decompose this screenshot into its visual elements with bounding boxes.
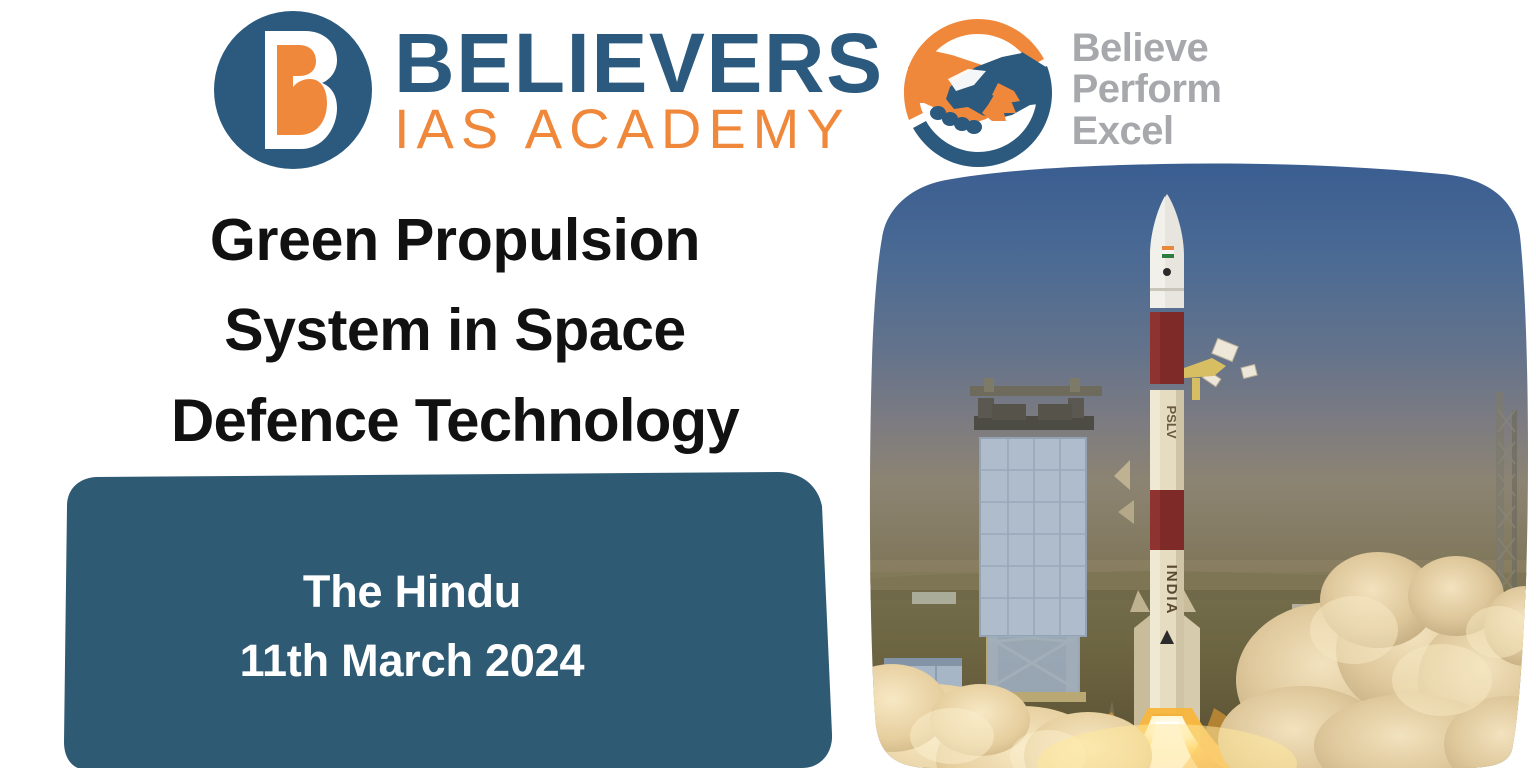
brand-name-primary: BELIEVERS	[394, 27, 884, 99]
source-panel: The Hindu 11th March 2024	[62, 470, 834, 768]
source-text-group: The Hindu 11th March 2024	[62, 568, 762, 685]
rocket-label-india: INDIA	[1163, 565, 1180, 616]
rocket-launch-photo: PSLV INDIA	[862, 160, 1536, 768]
poster-canvas: BELIEVERS IAS ACADEMY	[0, 0, 1536, 768]
tagline-line-3: Excel	[1072, 111, 1222, 153]
rocket-label-pslv: PSLV	[1164, 406, 1179, 439]
brand-header: BELIEVERS IAS ACADEMY	[210, 6, 1350, 174]
tagline-line-2: Perform	[1072, 69, 1222, 111]
source-date: 11th March 2024	[62, 637, 762, 684]
handshake-icon	[890, 7, 1066, 173]
page-title-line-1: Green Propulsion	[60, 196, 850, 286]
page-title: Green Propulsion System in Space Defence…	[60, 196, 850, 467]
page-title-line-2: System in Space	[60, 286, 850, 376]
believers-logo-mark	[210, 7, 382, 173]
page-title-line-3: Defence Technology	[60, 375, 850, 466]
brand-wordmark: BELIEVERS IAS ACADEMY	[394, 23, 884, 157]
source-publication: The Hindu	[62, 568, 762, 615]
brand-name-secondary: IAS ACADEMY	[394, 101, 884, 157]
tagline-line-1: Believe	[1072, 28, 1222, 70]
brand-tagline: Believe Perform Excel	[1072, 28, 1222, 153]
logo-letter-b-icon	[265, 31, 337, 149]
